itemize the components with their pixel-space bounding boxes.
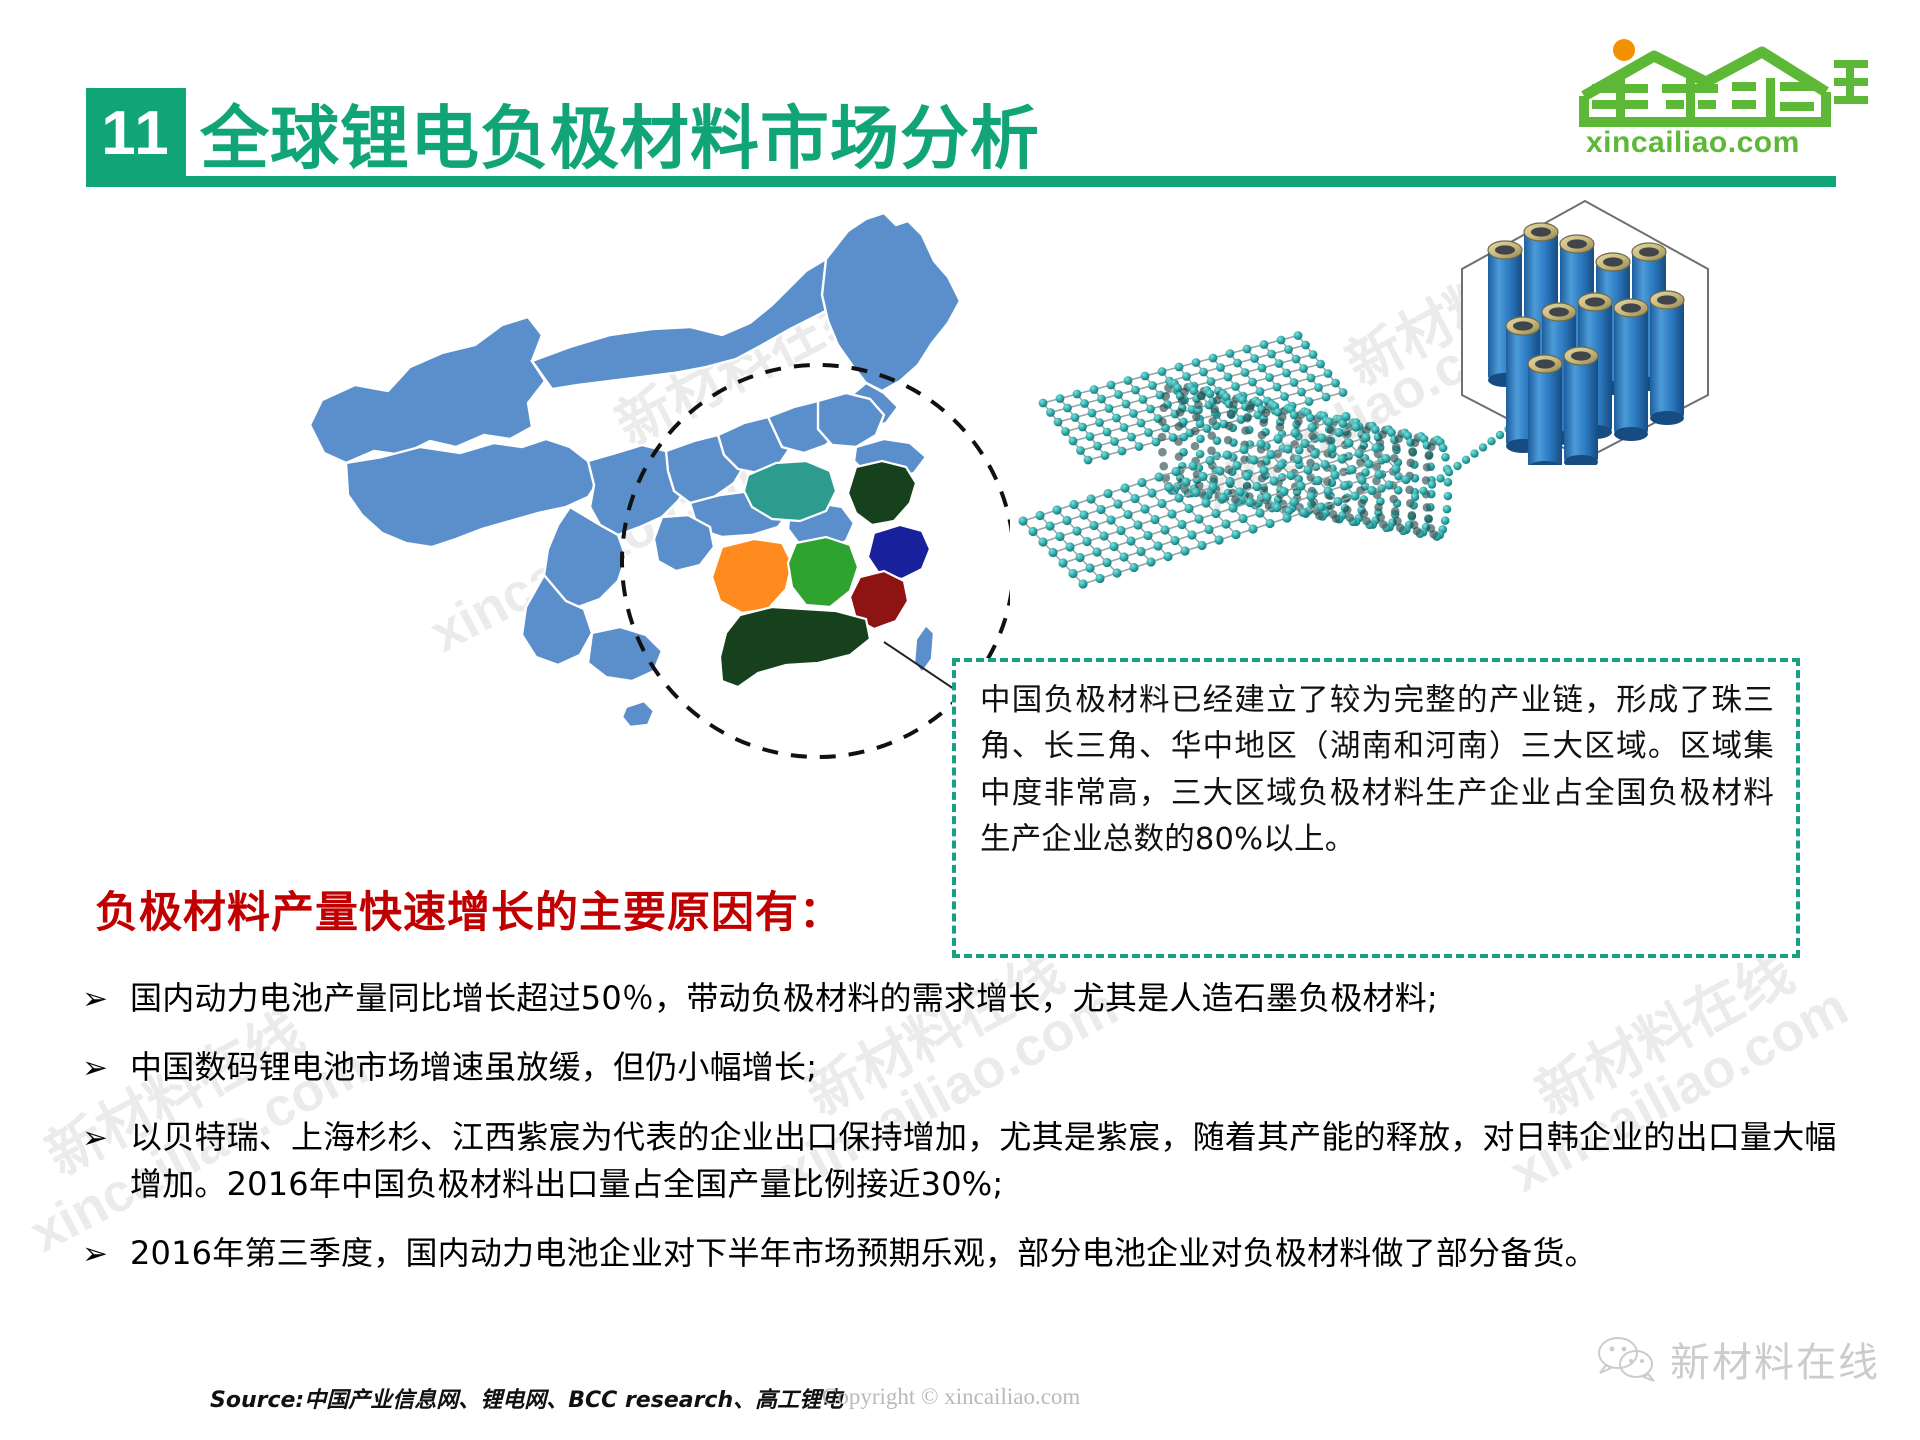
map-region-guangdong[interactable] <box>720 607 870 687</box>
battery-cell <box>1650 300 1684 418</box>
list-item: ➢ 以贝特瑞、上海杉杉、江西紫宸为代表的企业出口保持增加，尤其是紫宸，随着其产能… <box>82 1114 1842 1209</box>
list-item-text: 2016年第三季度，国内动力电池企业对下半年市场预期乐观，部分电池企业对负极材料… <box>130 1230 1842 1277</box>
list-item-text: 以贝特瑞、上海杉杉、江西紫宸为代表的企业出口保持增加，尤其是紫宸，随着其产能的释… <box>130 1114 1842 1209</box>
brand-domain: xincailiao.com <box>1586 126 1800 160</box>
reasons-heading: 负极材料产量快速增长的主要原因有： <box>95 878 843 940</box>
title-underline-rule <box>86 176 1836 187</box>
wechat-icon <box>1594 1334 1658 1384</box>
battery-cell <box>1564 356 1598 462</box>
battery-cell <box>1528 364 1562 465</box>
list-item: ➢ 2016年第三季度，国内动力电池企业对下半年市场预期乐观，部分电池企业对负极… <box>82 1230 1842 1277</box>
cell-stack <box>1488 223 1684 465</box>
list-item-text: 中国数码锂电池市场增速虽放缓，但仍小幅增长; <box>130 1044 1842 1091</box>
map-region-jiangsu[interactable] <box>848 461 916 525</box>
list-item: ➢ 国内动力电池产量同比增长超过50％，带动负极材料的需求增长，尤其是人造石墨负… <box>82 975 1842 1022</box>
lithium-battery-figure <box>1450 195 1720 465</box>
bullet-arrow-icon: ➢ <box>82 1230 130 1277</box>
logo-sun-dot <box>1613 39 1635 61</box>
brand-logo[interactable]: xincailiao.com <box>1576 34 1876 162</box>
brand-logo-mark <box>1576 34 1876 129</box>
map-region-jiangxi[interactable] <box>788 537 858 607</box>
reasons-bullet-list: ➢ 国内动力电池产量同比增长超过50％，带动负极材料的需求增长，尤其是人造石墨负… <box>82 975 1842 1300</box>
slide-number-badge: 11 <box>86 88 186 180</box>
logo-online-badge <box>1834 60 1868 104</box>
page-title: 全球锂电负极材料市场分析 <box>200 84 1040 180</box>
wechat-badge: 新材料在线 <box>1594 1330 1880 1388</box>
insight-text: 中国负极材料已经建立了较为完整的产业链，形成了珠三角、长三角、华中地区（湖南和河… <box>980 678 1774 863</box>
wechat-label: 新材料在线 <box>1670 1330 1880 1388</box>
map-region-zhejiang[interactable] <box>868 525 930 579</box>
map-region-hunan[interactable] <box>712 539 792 613</box>
copyright-note: Copyright © xincailiao.com <box>822 1384 1080 1410</box>
bullet-arrow-icon: ➢ <box>82 1114 130 1161</box>
slide-footer: Source:中国产业信息网、锂电网、BCC research、高工锂电 Cop… <box>0 1382 1920 1440</box>
battery-cell <box>1614 308 1648 434</box>
list-item-text: 国内动力电池产量同比增长超过50％，带动负极材料的需求增长，尤其是人造石墨负极材… <box>130 975 1842 1022</box>
source-note: Source:中国产业信息网、锂电网、BCC research、高工锂电 <box>210 1382 843 1414</box>
insight-callout-box: 中国负极材料已经建立了较为完整的产业链，形成了珠三角、长三角、华中地区（湖南和河… <box>952 658 1800 958</box>
bullet-arrow-icon: ➢ <box>82 1044 130 1091</box>
list-item: ➢ 中国数码锂电池市场增速虽放缓，但仍小幅增长; <box>82 1044 1842 1091</box>
bullet-arrow-icon: ➢ <box>82 975 130 1022</box>
